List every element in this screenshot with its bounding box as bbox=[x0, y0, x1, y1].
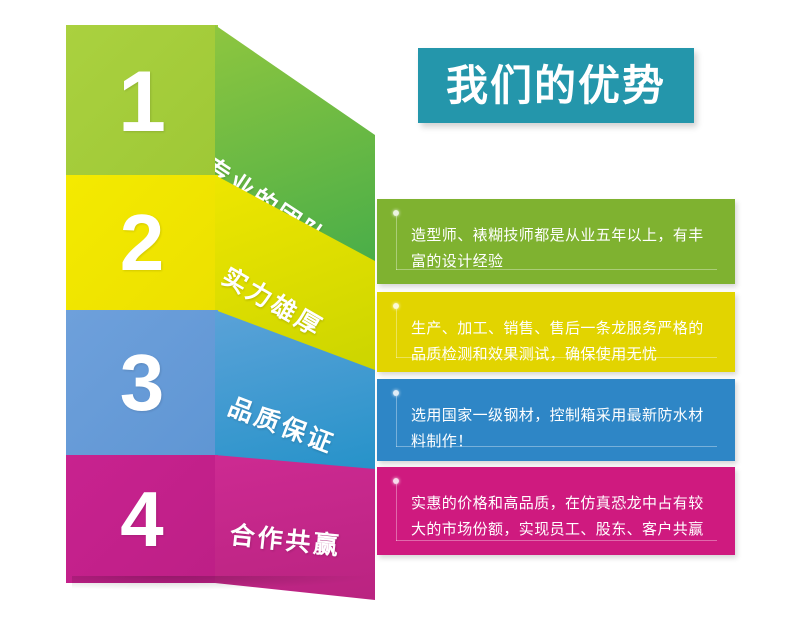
ribbon-label-4: 合作共赢 bbox=[228, 515, 343, 563]
bracket-line-2 bbox=[396, 309, 397, 358]
description-text-3: 选用国家一级钢材，控制箱采用最新防水材料制作！ bbox=[411, 403, 713, 455]
number-box-2: 2 bbox=[66, 175, 218, 311]
ribbon-4: 合作共赢 bbox=[215, 455, 375, 615]
bracket-line-3 bbox=[396, 396, 397, 447]
description-panel-1: 造型师、裱糊技师都是从业五年以上，有丰富的设计经验 bbox=[377, 199, 735, 284]
column-drop-shadow bbox=[72, 576, 372, 590]
number-box-3: 3 bbox=[66, 310, 218, 455]
number-label-3: 3 bbox=[120, 343, 165, 423]
bracket-line-4 bbox=[396, 484, 397, 541]
number-label-1: 1 bbox=[118, 59, 166, 145]
advantages-infographic: 我们的优势 1 专业的团队 2 实力雄厚 3 品质保证 4 合作共赢 bbox=[0, 0, 800, 622]
number-label-4: 4 bbox=[120, 480, 163, 558]
description-text-1: 造型师、裱糊技师都是从业五年以上，有丰富的设计经验 bbox=[411, 223, 713, 275]
page-title-badge: 我们的优势 bbox=[418, 48, 694, 123]
number-box-1: 1 bbox=[66, 25, 218, 178]
ribbon-label-3: 品质保证 bbox=[224, 387, 341, 461]
description-text-4: 实惠的价格和高品质，在仿真恐龙中占有较大的市场份额，实现员工、股东、客户共赢 bbox=[411, 491, 713, 543]
description-panel-4: 实惠的价格和高品质，在仿真恐龙中占有较大的市场份额，实现员工、股东、客户共赢 bbox=[377, 467, 735, 555]
number-box-4: 4 bbox=[66, 455, 218, 583]
description-text-2: 生产、加工、销售、售后一条龙服务严格的品质检测和效果测试，确保使用无忧 bbox=[411, 316, 713, 368]
number-label-2: 2 bbox=[120, 203, 165, 283]
bracket-line-1 bbox=[396, 216, 397, 270]
page-title: 我们的优势 bbox=[446, 65, 666, 107]
description-panel-3: 选用国家一级钢材，控制箱采用最新防水材料制作！ bbox=[377, 379, 735, 461]
description-panel-2: 生产、加工、销售、售后一条龙服务严格的品质检测和效果测试，确保使用无忧 bbox=[377, 292, 735, 372]
